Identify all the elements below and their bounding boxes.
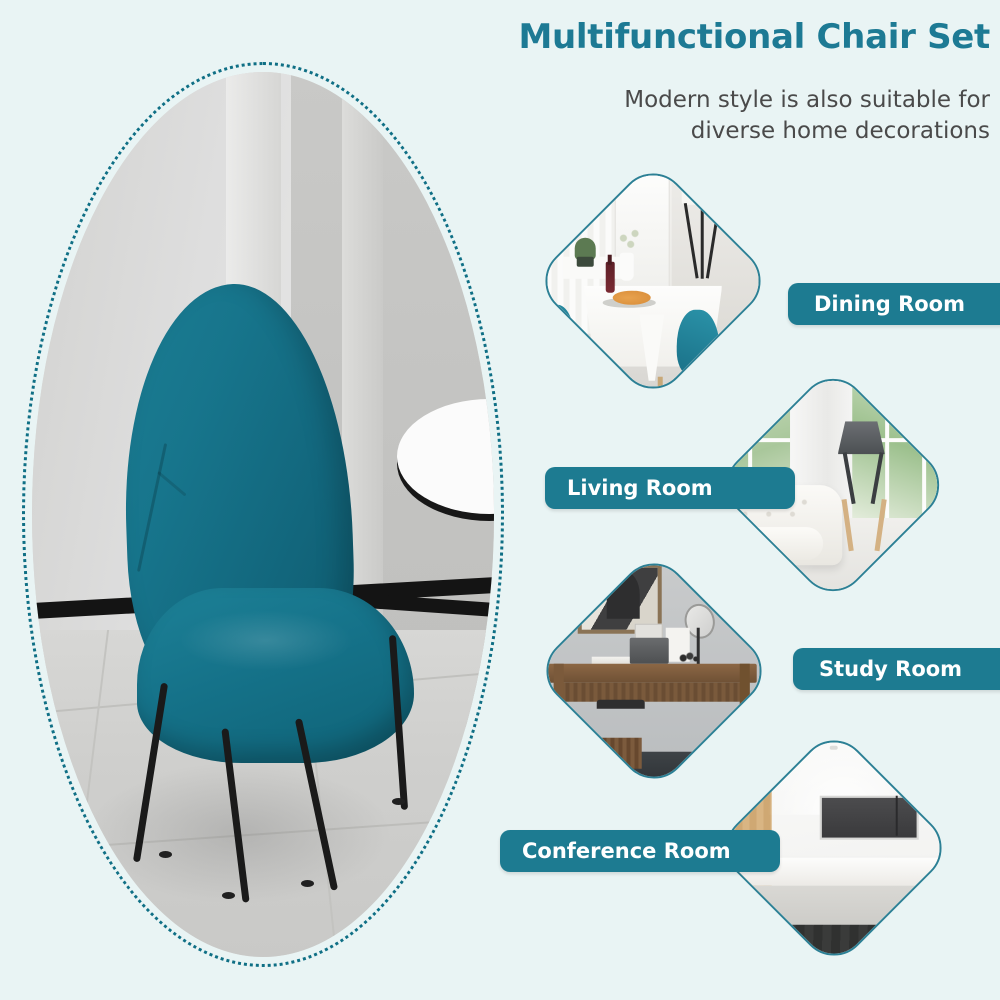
scene-label-dining-room[interactable]: Dining Room xyxy=(788,283,1000,325)
study-floor xyxy=(535,752,774,790)
dining-teal-chair-left xyxy=(536,305,574,362)
study-desk-top xyxy=(547,664,757,683)
conference-wall-screen xyxy=(820,796,919,841)
conference-counter-base xyxy=(734,886,953,924)
page-title: Multifunctional Chair Set xyxy=(410,20,990,56)
conference-ceiling-light xyxy=(829,745,837,749)
scene-label-text: Study Room xyxy=(819,657,962,681)
dining-chair-left-leg-1 xyxy=(541,357,549,390)
study-desk-bottles xyxy=(678,645,699,664)
scene-label-text: Dining Room xyxy=(814,292,965,316)
conference-floor xyxy=(715,924,954,967)
living-lamp-shade xyxy=(838,421,885,454)
study-cart-slats xyxy=(599,738,642,769)
page-subtitle: Modern style is also suitable for divers… xyxy=(470,85,990,147)
scene-label-text: Living Room xyxy=(567,476,713,500)
dining-wine-bottle xyxy=(605,262,615,293)
scene-label-study-room[interactable]: Study Room xyxy=(793,648,1000,690)
living-mullion-h-1 xyxy=(715,438,790,442)
study-cart-top xyxy=(597,700,645,710)
scene-label-living-room[interactable]: Living Room xyxy=(545,467,795,509)
dining-table-leg-left xyxy=(591,362,596,395)
scene-label-conference-room[interactable]: Conference Room xyxy=(500,830,780,872)
hero-dotted-outline xyxy=(22,62,504,967)
study-wall-art-arch xyxy=(606,571,639,619)
dining-sideboard xyxy=(562,257,624,278)
dining-chair-left-leg-2 xyxy=(565,360,573,393)
dining-planter xyxy=(577,257,594,267)
poster-canvas: Multifunctional Chair Set Modern style i… xyxy=(0,0,1000,1000)
study-desk-leg-right xyxy=(740,664,750,736)
dining-room-scene xyxy=(534,162,773,401)
study-desk-leg-left xyxy=(554,664,564,745)
study-desk-apron xyxy=(554,683,750,702)
subtitle-line-1: Modern style is also suitable for xyxy=(470,85,990,116)
scene-photo-dining-room[interactable] xyxy=(531,159,774,402)
dining-bread xyxy=(612,291,650,305)
dining-wine-bottle-neck xyxy=(608,255,612,265)
study-printer xyxy=(630,638,668,664)
dining-table-leg-right xyxy=(658,376,663,400)
hero-photo-frame xyxy=(22,62,504,967)
living-mullion-2 xyxy=(885,372,889,518)
living-sofa-cushion xyxy=(715,527,823,560)
dining-chair-right-leg-2 xyxy=(710,369,718,400)
scene-label-text: Conference Room xyxy=(522,839,731,863)
dining-lamp-tripod xyxy=(686,202,715,278)
dining-chair-right-leg-1 xyxy=(682,369,690,400)
dining-vase xyxy=(620,252,634,281)
subtitle-line-2: diverse home decorations xyxy=(470,116,990,147)
conference-screen-divider xyxy=(896,796,898,837)
dining-lamp-shade xyxy=(682,176,720,205)
living-mullion-3 xyxy=(923,372,927,518)
study-room-scene xyxy=(535,552,774,791)
study-left-panel xyxy=(535,642,549,728)
scene-photo-study-room[interactable] xyxy=(532,549,775,792)
